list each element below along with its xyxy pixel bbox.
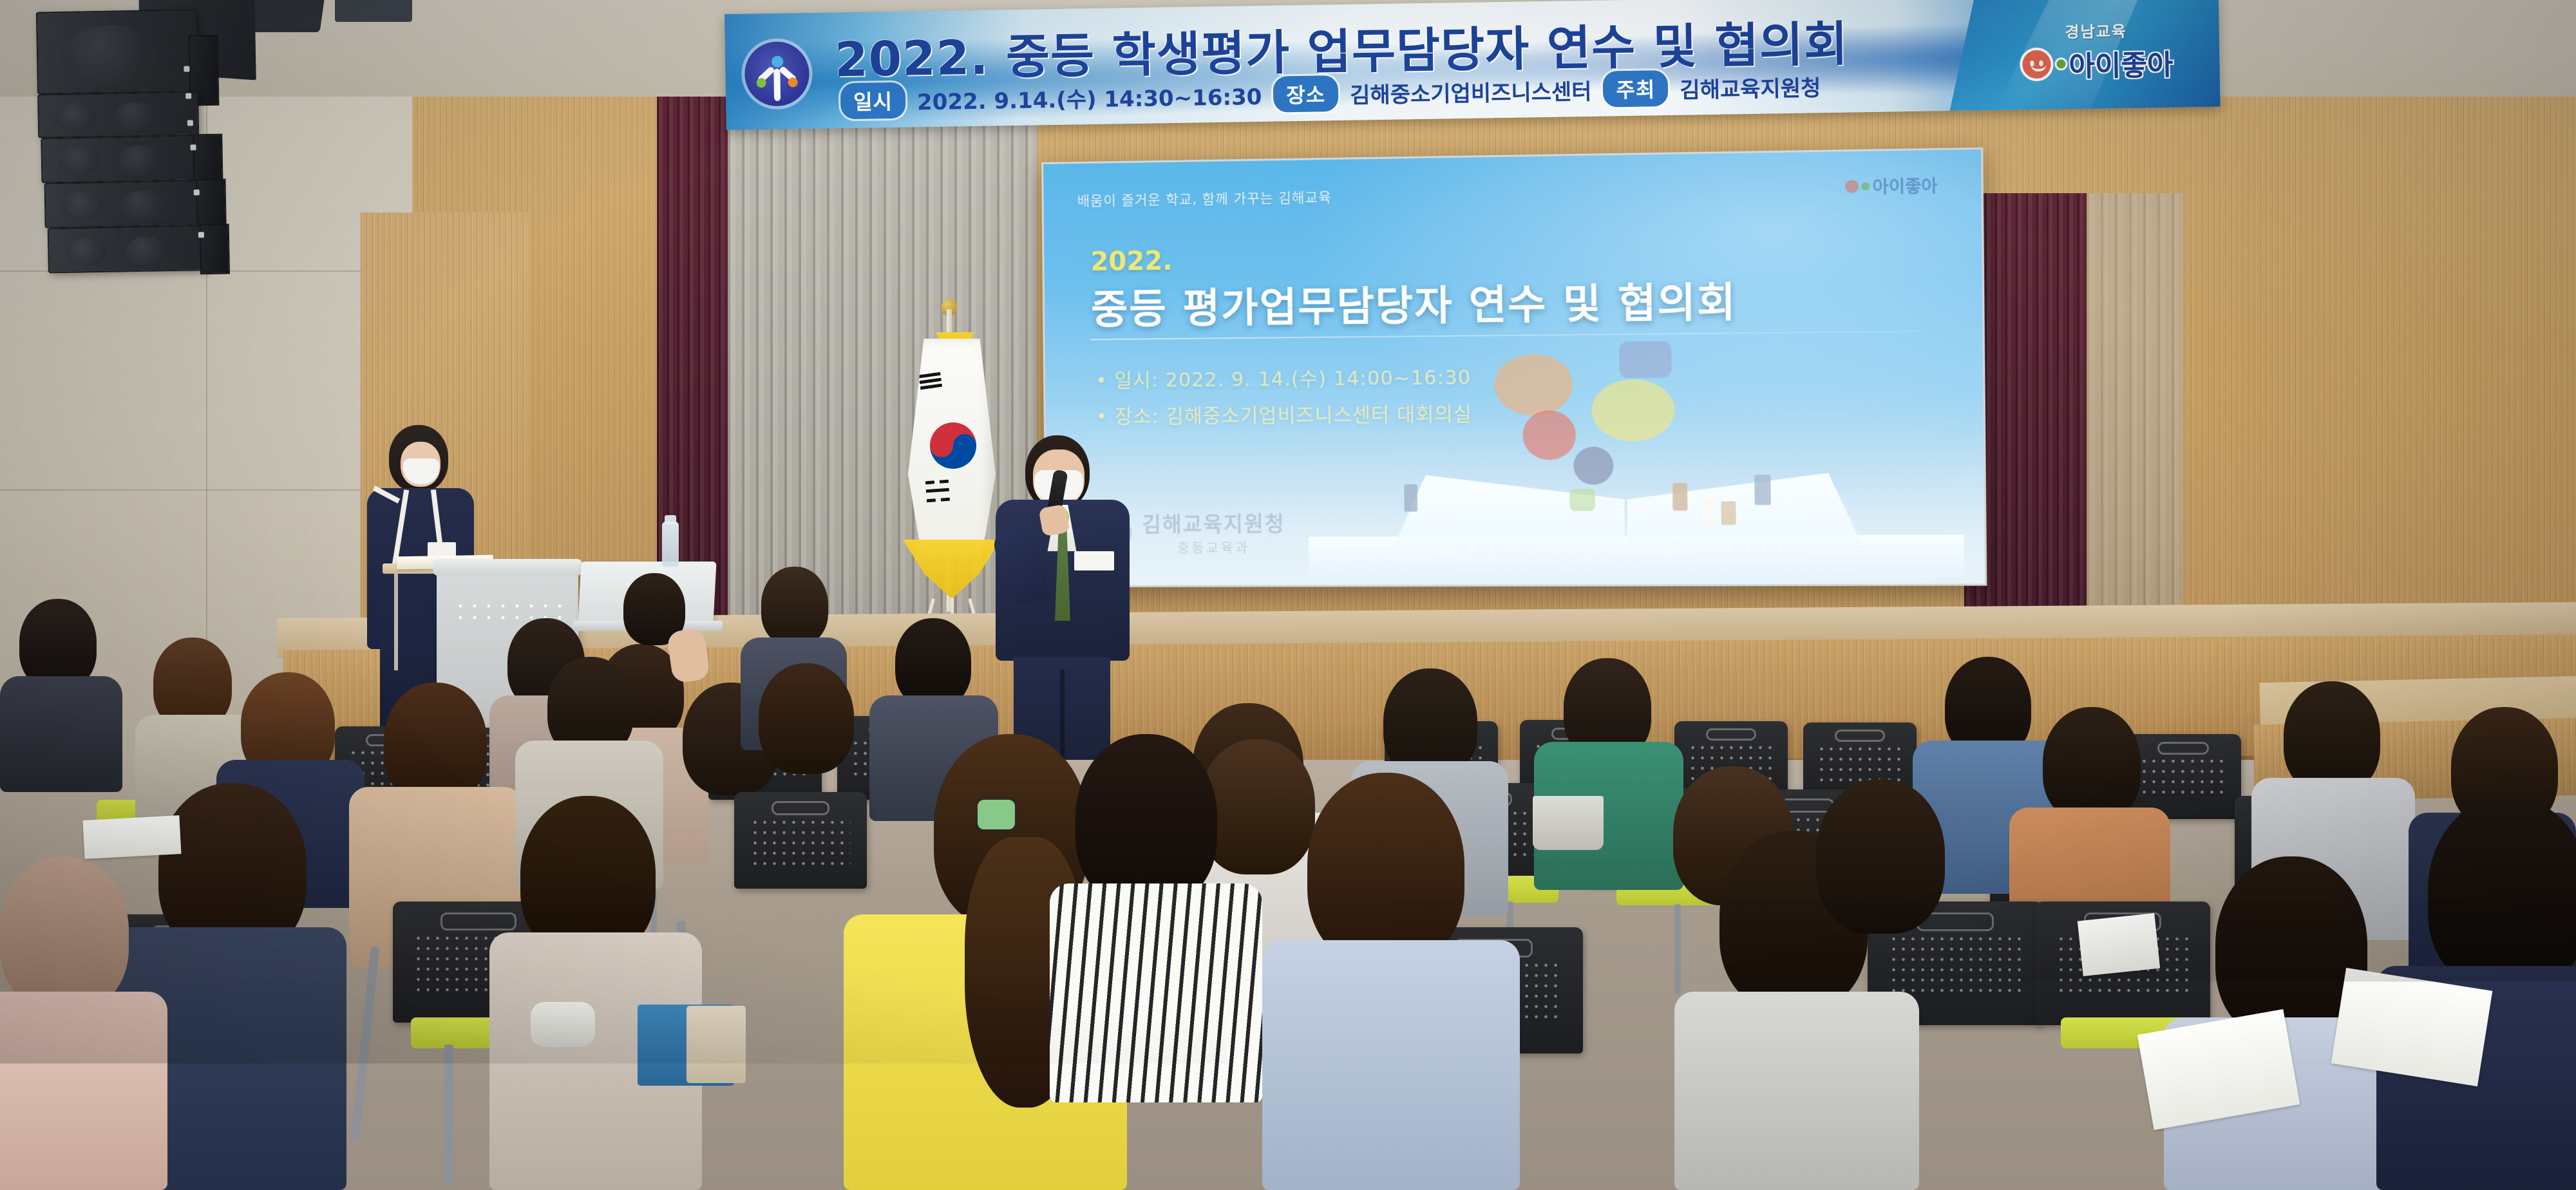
speaker-hand [1038, 504, 1070, 537]
hair-clip-icon [978, 800, 1015, 829]
audience-head [2043, 707, 2141, 822]
slide-title: 중등 평가업무담당자 연수 및 협의회 [1091, 269, 1737, 335]
handout-paper [2078, 913, 2160, 976]
taeguk-symbol-icon [930, 422, 976, 469]
conference-photo-scene: 2022. 중등 학생평가 업무담당자 연수 및 협의회 일시 2022. 9.… [0, 0, 2576, 1190]
slide-footer-org: 김해교육지원청 [1142, 507, 1285, 538]
audience-head [759, 663, 854, 774]
person-figure-icon [1754, 475, 1771, 505]
audience-torso [0, 992, 167, 1190]
smiley-face-icon [2020, 47, 2054, 81]
aijoa-dot-icon [2054, 57, 2067, 70]
handbag [1533, 796, 1604, 850]
banner-value-date: 2022. 9.14.(수) 14:30~16:30 [917, 79, 1262, 115]
banner-value-place: 김해중소기업비즈니스센터 [1350, 73, 1592, 109]
aijoa-logo: 경남교육 아이좋아 [1989, 1, 2203, 101]
aijoa-logo-word: 아이좋아 [2069, 41, 2173, 84]
audience-torso [1262, 940, 1520, 1190]
bubble-icon [1494, 354, 1573, 416]
aijoa-logo-top-text: 경남교육 [2065, 18, 2127, 42]
audience-head [1816, 779, 1945, 934]
slide-aijoa-word: 아이좋아 [1872, 173, 1937, 198]
handbag [687, 1006, 746, 1083]
banner-pill-host: 주최 [1603, 70, 1669, 108]
speaker-name-badge [1074, 551, 1114, 571]
audience-torso [0, 676, 122, 792]
projection-screen: 배움이 즐거운 학교, 함께 가꾸는 김해교육 아이좋아 2022. 중등 평가… [1041, 147, 1987, 587]
warning-sign-icon [1619, 341, 1672, 379]
speaker-person [985, 430, 1140, 759]
presentation-slide: 배움이 즐거운 학교, 함께 가꾸는 김해교육 아이좋아 2022. 중등 평가… [1043, 149, 1985, 585]
slide-slogan: 배움이 즐거운 학교, 함께 가꾸는 김해교육 [1077, 187, 1331, 210]
banner-pill-place: 장소 [1273, 75, 1339, 113]
bubble-icon [1522, 410, 1576, 460]
ceiling-duct-icon [335, 0, 412, 22]
audience-head [384, 683, 487, 804]
bubble-icon [1569, 489, 1595, 511]
audience-head [19, 599, 97, 689]
audience-head [895, 618, 971, 707]
banner-pill-date: 일시 [840, 82, 906, 120]
audience-head [1307, 773, 1464, 966]
banner-value-host: 김해교육지원청 [1680, 70, 1821, 104]
audience-head [761, 567, 828, 645]
bubble-icon [1573, 446, 1614, 484]
bubble-icon [1591, 379, 1675, 442]
line-array-speaker-stack [36, 5, 235, 323]
slide-footer-dept: 중등교육과 [1142, 538, 1285, 557]
host-name-badge [428, 542, 456, 556]
water-bottle [662, 522, 679, 567]
person-figure-icon [1721, 501, 1736, 525]
person-figure-icon [1404, 484, 1417, 512]
slide-year: 2022. [1090, 246, 1172, 277]
slide-bullet-date: • 일시: 2022. 9. 14.(수) 14:00~16:30 [1095, 361, 1472, 393]
handout-paper [83, 815, 182, 859]
shoe [531, 1002, 595, 1047]
audience-torso [1674, 992, 1919, 1190]
audience-head [1075, 734, 1217, 907]
slide-bullets: • 일시: 2022. 9. 14.(수) 14:00~16:30 • 장소: … [1095, 361, 1472, 429]
audience-head [2428, 797, 2576, 990]
audience-torso-striped [1050, 883, 1262, 1102]
audience-head [2284, 681, 2380, 793]
audience-head [0, 856, 129, 1011]
slide-aijoa-logo: 아이좋아 [1845, 173, 1938, 198]
book-icon [1701, 498, 1714, 525]
person-figure-icon [1672, 483, 1687, 511]
open-book-illustration [1393, 419, 1862, 545]
